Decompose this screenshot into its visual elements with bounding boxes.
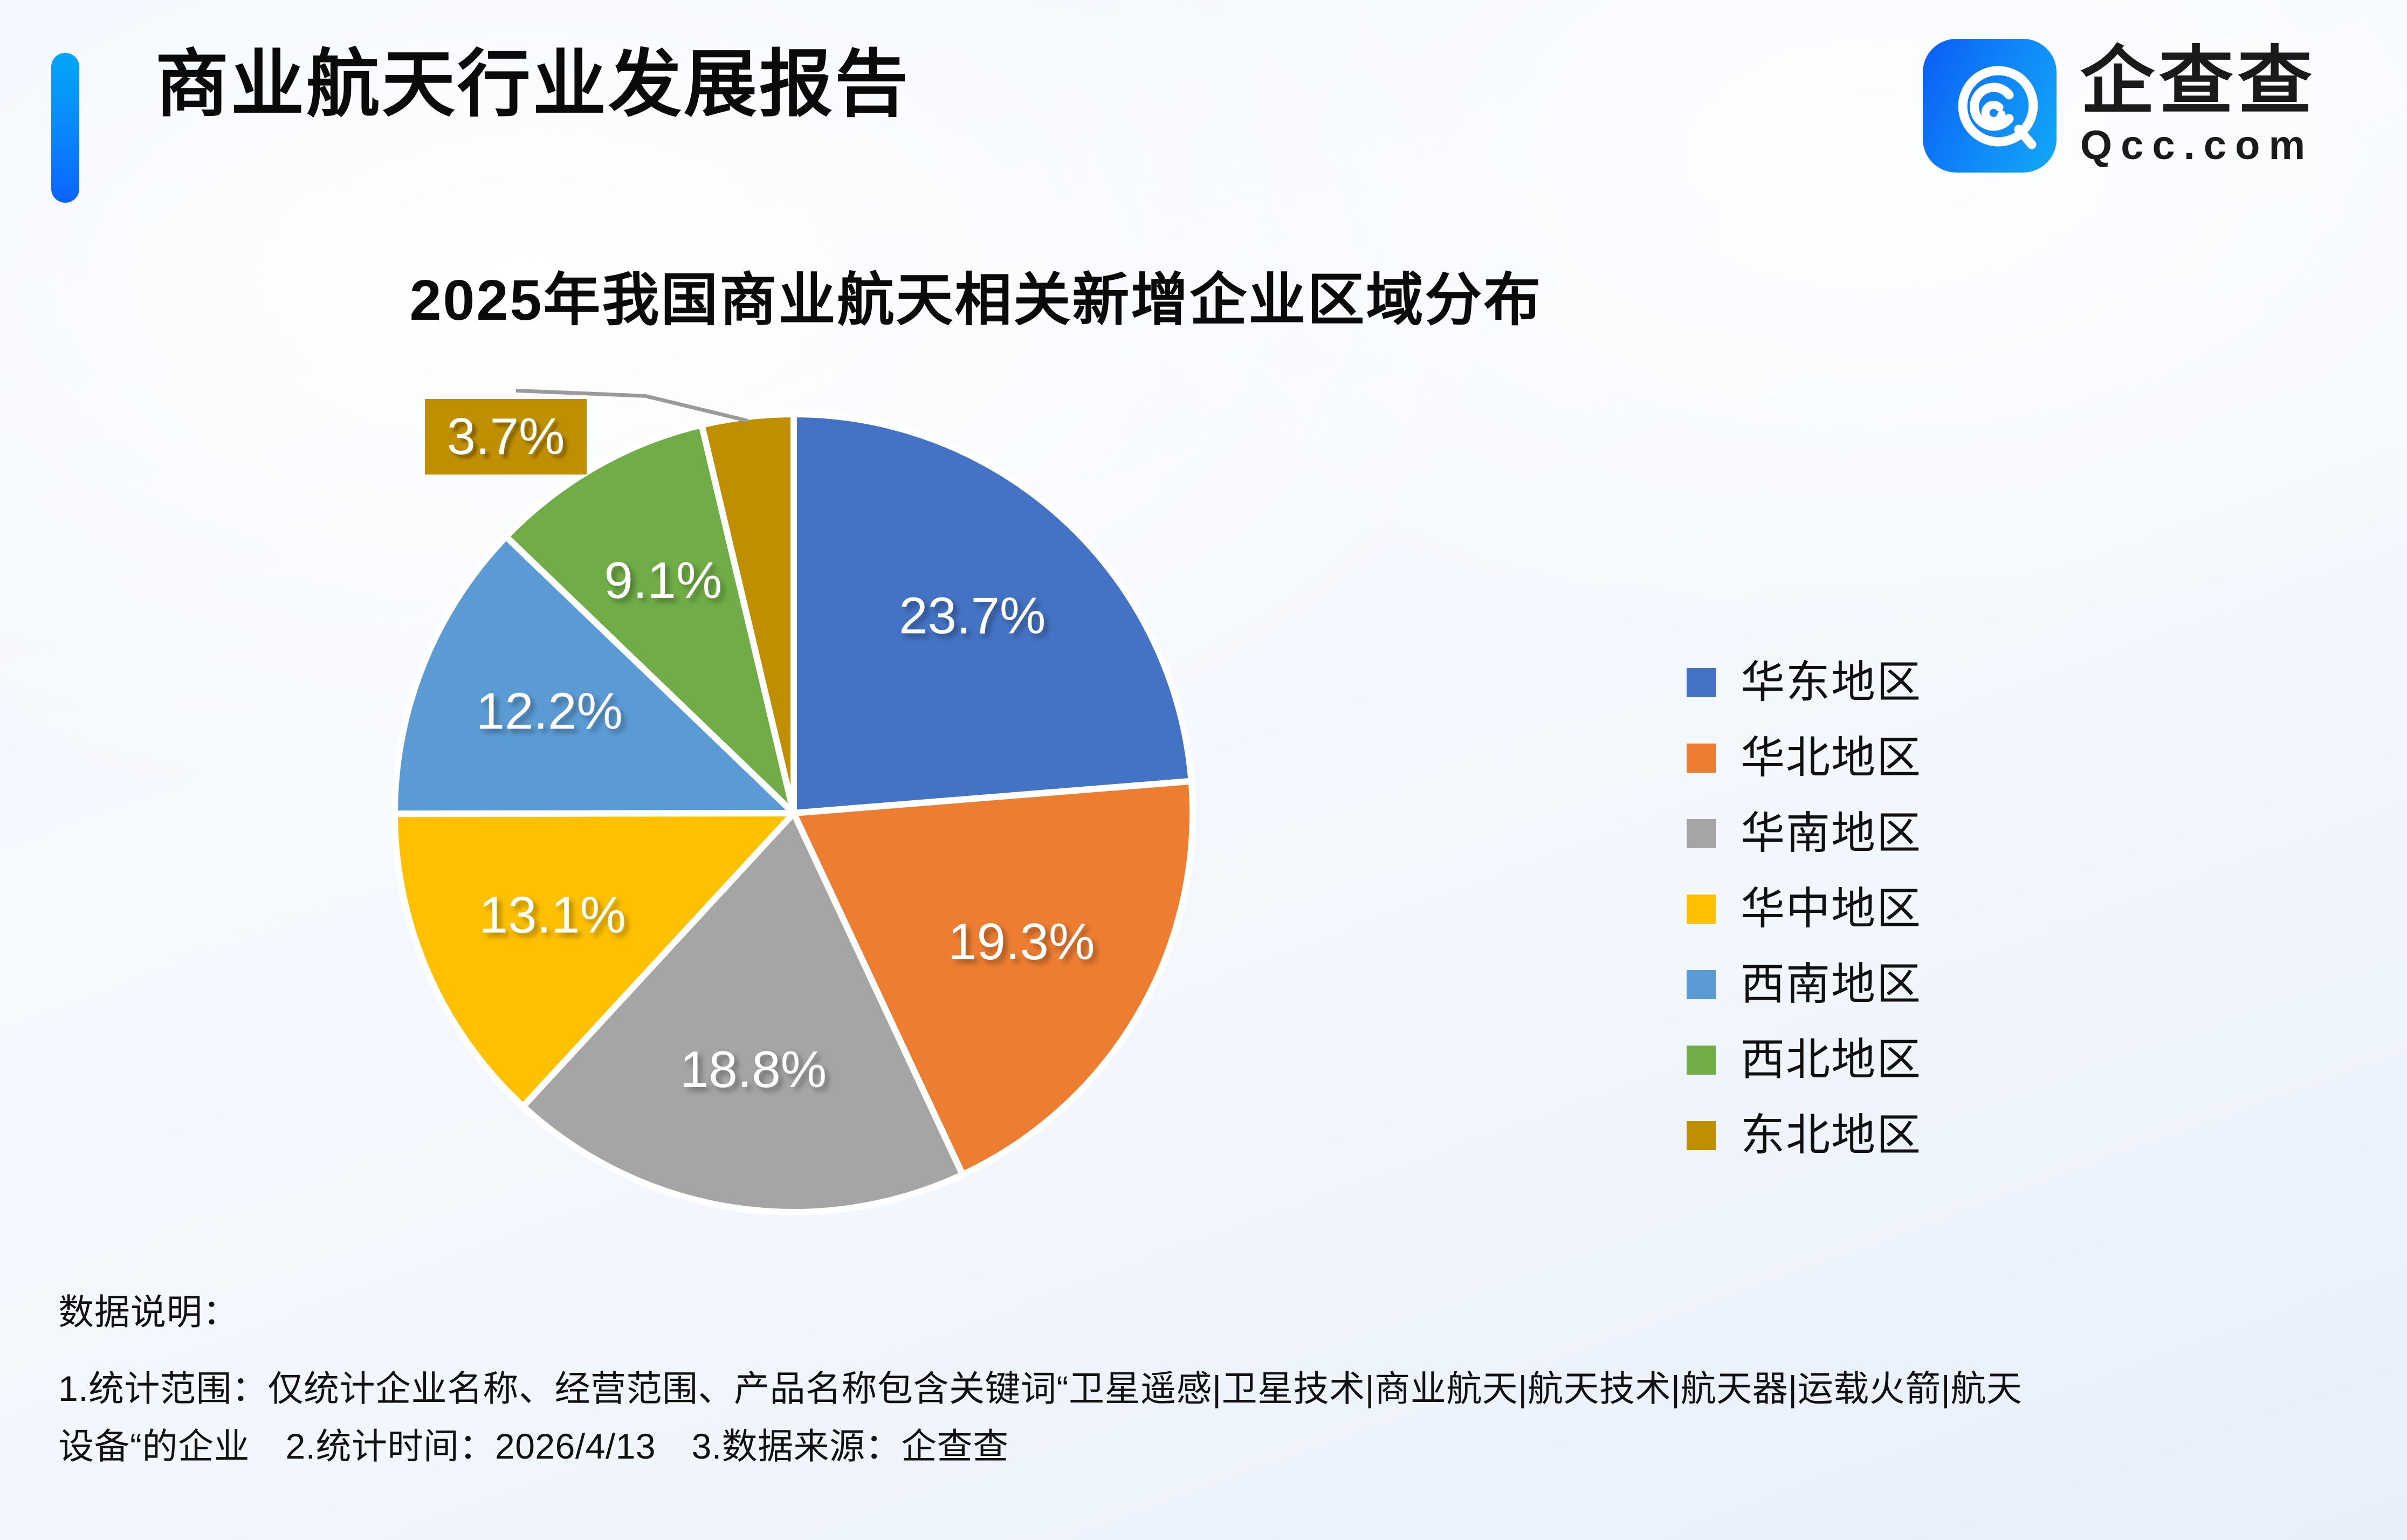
legend-item-label: 东北地区	[1741, 1113, 1922, 1158]
brand-logo[interactable]: 企查查 Qcc.com	[1923, 39, 2316, 173]
callout-label-text: 3.7%	[447, 411, 565, 463]
brand-domain: Qcc.com	[2080, 123, 2316, 168]
footnote-line-2: 设备“的企业 2.统计时间：2026/4/13 3.数据来源：企查查	[58, 1418, 2366, 1475]
legend-color-swatch	[1687, 895, 1716, 924]
legend-item[interactable]: 西北地区	[1687, 1022, 1922, 1098]
pie-slice-label: 9.1%	[604, 552, 722, 609]
pie-chart: 23.7%19.3%18.8%13.1%12.2%9.1%	[334, 377, 1283, 1262]
legend-color-swatch	[1687, 970, 1716, 999]
legend-color-swatch	[1687, 744, 1716, 773]
brand-name-cn: 企查查	[2080, 44, 2316, 120]
legend-item[interactable]: 西南地区	[1687, 947, 1922, 1022]
title-accent-bar	[51, 53, 79, 203]
footnote-heading: 数据说明：	[58, 1294, 2366, 1330]
legend-color-swatch	[1687, 1046, 1716, 1075]
legend-color-swatch	[1687, 819, 1716, 848]
pie-slice-label: 23.7%	[899, 587, 1046, 644]
pie-slice-label: 18.8%	[680, 1041, 827, 1098]
legend-item-label: 西北地区	[1741, 1038, 1922, 1082]
report-header: 商业航天行业发展报告 企查查 Qcc.com	[0, 0, 2407, 221]
brand-wordmark: 企查查 Qcc.com	[2080, 44, 2316, 168]
pie-slice-label: 12.2%	[476, 682, 623, 740]
callout-label-box: 3.7%	[425, 399, 587, 475]
legend-item[interactable]: 东北地区	[1687, 1098, 1922, 1173]
legend-color-swatch	[1687, 668, 1716, 697]
legend-item[interactable]: 华北地区	[1687, 720, 1922, 796]
legend-item-label: 华北地区	[1741, 736, 1922, 780]
legend-item[interactable]: 华南地区	[1687, 796, 1922, 871]
pie-slice-label: 19.3%	[948, 913, 1095, 971]
legend-item[interactable]: 华东地区	[1687, 645, 1922, 720]
report-page: 商业航天行业发展报告 企查查 Qcc.com 2025年我国商	[0, 0, 2407, 1540]
chart-title: 2025年我国商业航天相关新增企业区域分布	[0, 253, 1952, 336]
footnote-line-1: 1.统计范围：仅统计企业名称、经营范围、产品名称包含关键词“卫星遥感|卫星技术|…	[58, 1360, 2366, 1418]
chart-legend: 华东地区华北地区华南地区华中地区西南地区西北地区东北地区	[1687, 645, 1922, 1173]
pie-slice-label: 13.1%	[479, 886, 626, 944]
footnotes: 数据说明： 1.统计范围：仅统计企业名称、经营范围、产品名称包含关键词“卫星遥感…	[58, 1294, 2366, 1475]
legend-color-swatch	[1687, 1121, 1716, 1150]
legend-item-label: 西南地区	[1741, 962, 1922, 1007]
legend-item-label: 华中地区	[1741, 887, 1922, 931]
legend-item-label: 华南地区	[1741, 812, 1922, 856]
page-title: 商业航天行业发展报告	[155, 47, 910, 121]
legend-item[interactable]: 华中地区	[1687, 871, 1922, 947]
qcc-spiral-q-logo-icon	[1923, 39, 2057, 173]
legend-item-label: 华东地区	[1741, 661, 1922, 705]
